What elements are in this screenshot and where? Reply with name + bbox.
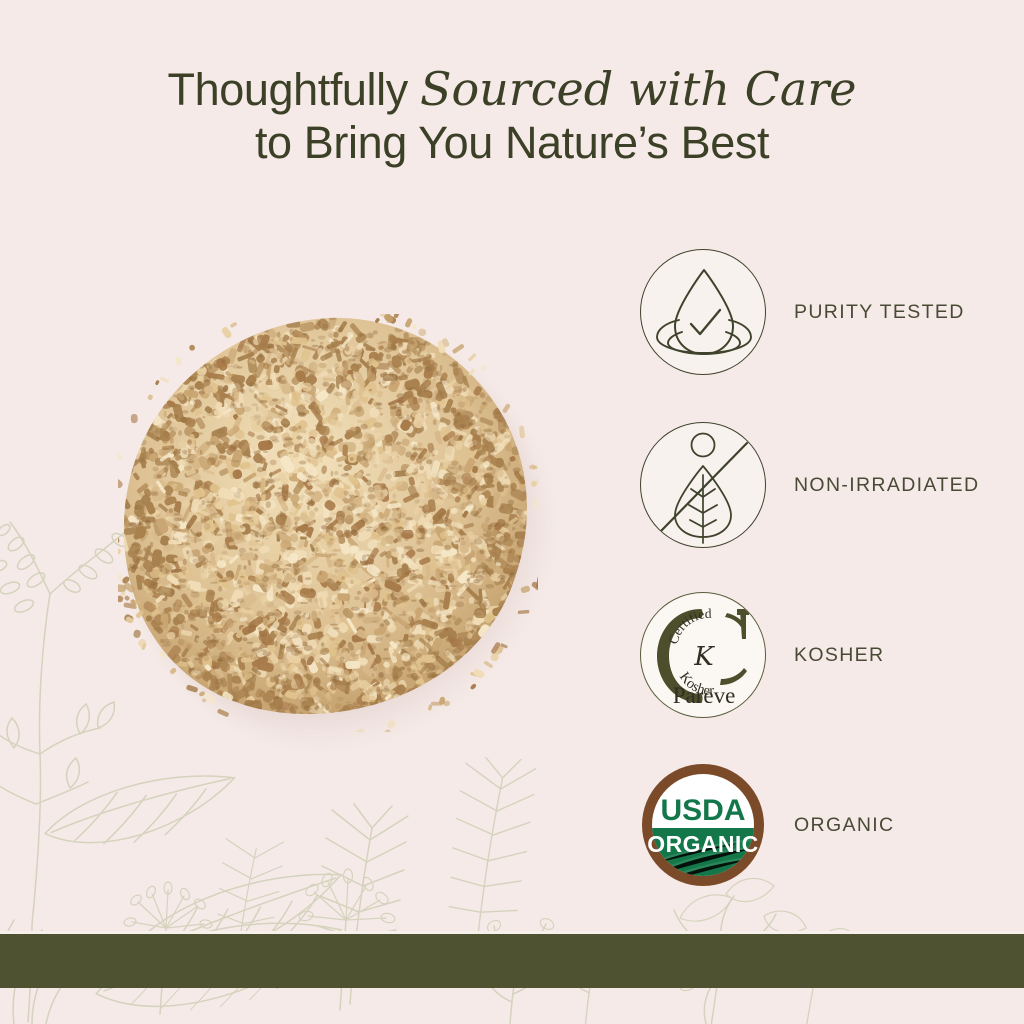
poster-canvas: Thoughtfully Sourced with Care to Bring … (0, 0, 1024, 1024)
dried-chopped-herb-root-pile (96, 300, 566, 770)
badge-kosher: Certified Kosher K Pareve KOSHER (640, 592, 884, 718)
usda-bottom-word: ORGANIC (647, 831, 758, 857)
usda-top-word: USDA (660, 794, 745, 827)
leaf-no-radiation-slash-icon (640, 422, 766, 548)
non-irradiated-badge-circle (640, 422, 766, 548)
svg-text:Certified: Certified (665, 606, 712, 646)
kosher-badge-circle: Certified Kosher K Pareve (640, 592, 766, 718)
organic-label: ORGANIC (794, 814, 894, 837)
kosher-arc-top: Certified (665, 606, 712, 646)
badge-purity-tested: PURITY TESTED (640, 249, 965, 375)
headline-prefix: Thoughtfully (168, 64, 420, 115)
kosher-label: KOSHER (794, 644, 884, 667)
badge-non-irradiated: NON-IRRADIATED (640, 422, 979, 548)
headline-line-2: to Bring You Nature’s Best (0, 116, 1024, 169)
kosher-bottom-word: Pareve (673, 683, 736, 708)
page-title: Thoughtfully Sourced with Care to Bring … (0, 62, 1024, 169)
pile-texture (118, 314, 538, 732)
bottom-green-band (0, 934, 1024, 988)
badge-organic: USDA ORGANIC ORGANIC (640, 762, 894, 888)
usda-organic-seal-icon: USDA ORGANIC (640, 762, 766, 888)
headline-script-phrase: Sourced with Care (420, 62, 857, 116)
purity-tested-badge-circle (640, 249, 766, 375)
headline-line-1: Thoughtfully Sourced with Care (0, 62, 1024, 116)
ck-certified-kosher-pareve-seal-icon: Certified Kosher K Pareve (640, 592, 766, 718)
organic-badge-circle: USDA ORGANIC (640, 762, 766, 888)
non-irradiated-label: NON-IRRADIATED (794, 474, 979, 497)
water-drop-check-icon (640, 249, 766, 375)
purity-tested-label: PURITY TESTED (794, 301, 965, 324)
kosher-center-letter: K (693, 642, 715, 672)
